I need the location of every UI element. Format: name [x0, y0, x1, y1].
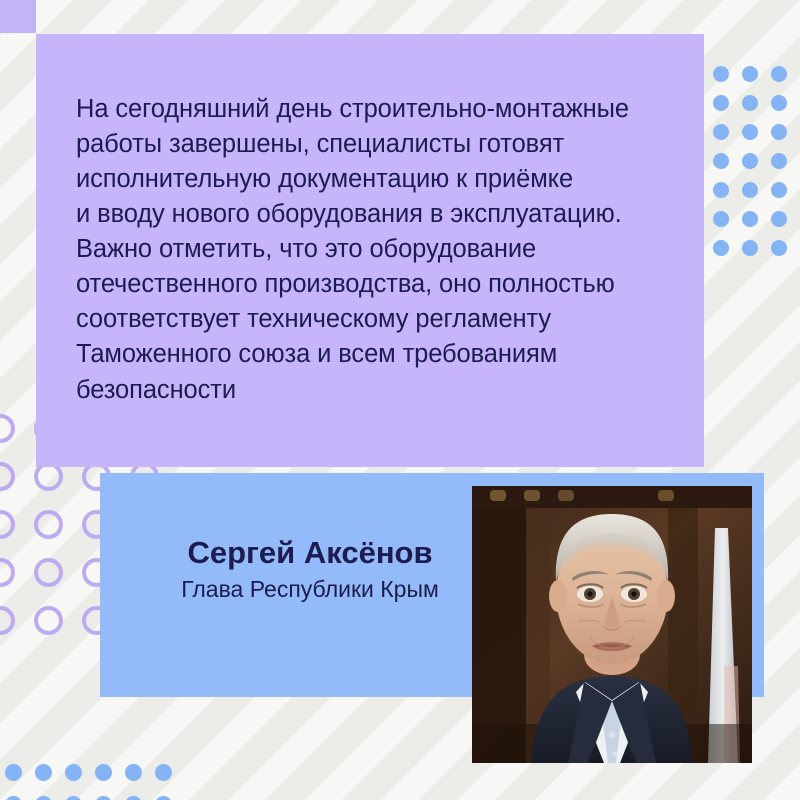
decor-dot	[95, 764, 112, 781]
decor-dot	[125, 764, 142, 781]
decor-dot	[0, 414, 15, 443]
decor-dot	[65, 796, 82, 800]
decor-dot	[713, 153, 729, 169]
decor-dot	[95, 796, 112, 800]
decor-dot	[713, 95, 729, 111]
decor-dot-grid-bottom-left	[5, 764, 185, 800]
decor-dot	[771, 95, 787, 111]
decor-dot	[34, 606, 63, 635]
decor-dot	[155, 764, 172, 781]
decor-dot	[742, 182, 758, 198]
speaker-portrait	[472, 486, 752, 763]
decor-dot	[5, 764, 22, 781]
decor-dot	[771, 66, 787, 82]
quote-card-graphic: На сегодняшний день строительно-монтажны…	[0, 0, 800, 800]
decor-dot	[713, 211, 729, 227]
decor-dot	[5, 796, 22, 800]
decor-dot	[34, 510, 63, 539]
decor-dot	[771, 182, 787, 198]
decor-dot	[742, 124, 758, 140]
speaker-name: Сергей Аксёнов	[130, 535, 490, 572]
decor-dot	[0, 462, 15, 491]
decor-dot	[713, 124, 729, 140]
decor-dot	[713, 240, 729, 256]
portrait-illustration	[472, 486, 752, 763]
decor-dot	[155, 796, 172, 800]
decor-dot	[771, 153, 787, 169]
decor-dot	[713, 66, 729, 82]
decor-dot	[65, 764, 82, 781]
quote-card: На сегодняшний день строительно-монтажны…	[36, 34, 704, 467]
decor-dot	[771, 124, 787, 140]
decor-dot	[742, 240, 758, 256]
decor-dot	[125, 796, 142, 800]
decor-square-top-left	[0, 0, 36, 33]
decor-dot-grid-top-right	[713, 66, 800, 269]
decor-dot	[0, 606, 15, 635]
decor-dot	[34, 558, 63, 587]
decor-dot	[771, 240, 787, 256]
decor-dot	[0, 510, 15, 539]
decor-dot	[771, 211, 787, 227]
speaker-role: Глава Республики Крым	[130, 576, 490, 604]
decor-dot	[35, 764, 52, 781]
decor-dot	[0, 558, 15, 587]
decor-dot	[742, 66, 758, 82]
decor-dot	[35, 796, 52, 800]
quote-text: На сегодняшний день строительно-монтажны…	[76, 92, 664, 408]
decor-dot	[742, 95, 758, 111]
decor-dot	[742, 211, 758, 227]
speaker-text-block: Сергей Аксёнов Глава Республики Крым	[130, 535, 490, 603]
decor-dot	[713, 182, 729, 198]
decor-dot	[742, 153, 758, 169]
